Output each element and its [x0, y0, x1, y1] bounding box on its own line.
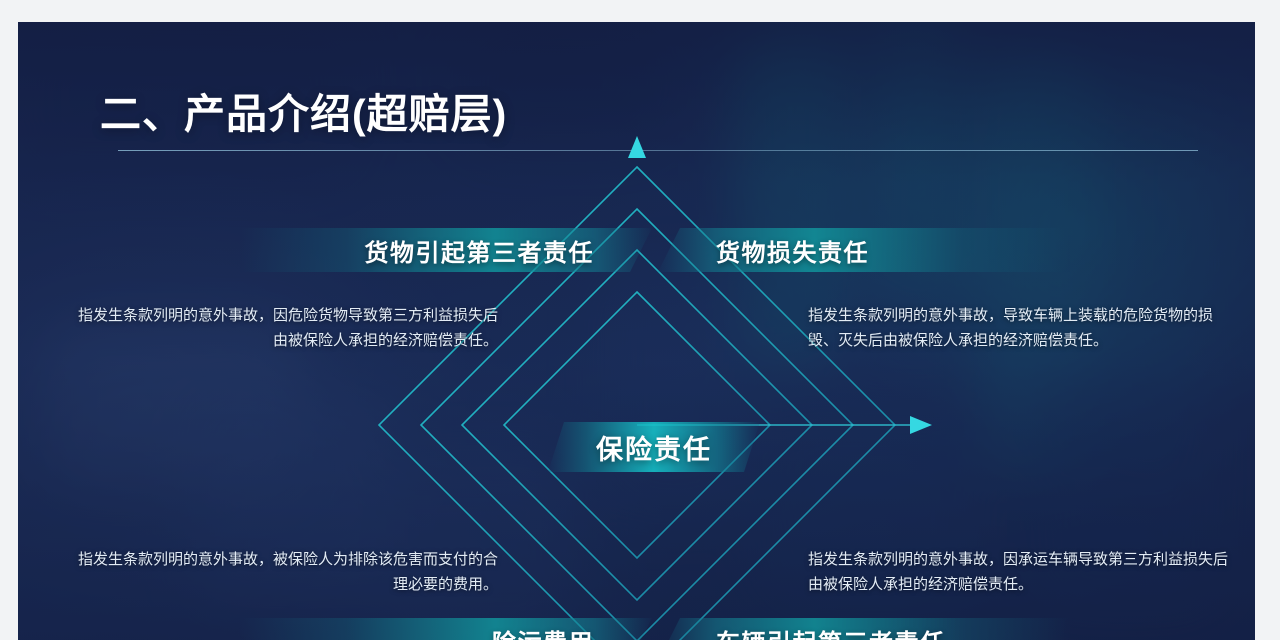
label-top-left: 货物引起第三者责任: [365, 233, 595, 268]
label-top-right: 货物损失责任: [716, 233, 869, 268]
description-bottom-left: 指发生条款列明的意外事故，被保险人为排除该危害而支付的合理必要的费用。: [78, 547, 498, 597]
center-badge-label: 保险责任: [596, 428, 712, 467]
axis-arrow-right-icon: [910, 416, 932, 434]
label-bar-bottom-left[interactable]: 除污费用: [240, 618, 652, 640]
label-bottom-right: 车辆引起第三者责任: [716, 623, 946, 640]
axis-arrow-up-icon: [628, 136, 646, 158]
description-top-right: 指发生条款列明的意外事故，导致车辆上装载的危险货物的损毁、灭失后由被保险人承担的…: [808, 303, 1228, 353]
center-badge: 保险责任: [548, 422, 760, 472]
description-top-left: 指发生条款列明的意外事故，因危险货物导致第三方利益损失后由被保险人承担的经济赔偿…: [78, 303, 498, 353]
slide-canvas: 二、产品介绍(超赔层): [18, 22, 1255, 640]
label-bar-bottom-right[interactable]: 车辆引起第三者责任: [658, 618, 1070, 640]
description-bottom-right: 指发生条款列明的意外事故，因承运车辆导致第三方利益损失后由被保险人承担的经济赔偿…: [808, 547, 1228, 597]
label-bar-top-right[interactable]: 货物损失责任: [658, 228, 1070, 272]
slide-page: 二、产品介绍(超赔层): [0, 0, 1280, 640]
label-bar-top-left[interactable]: 货物引起第三者责任: [240, 228, 652, 272]
vertical-axis: [628, 136, 646, 425]
label-bottom-left: 除污费用: [492, 623, 594, 640]
